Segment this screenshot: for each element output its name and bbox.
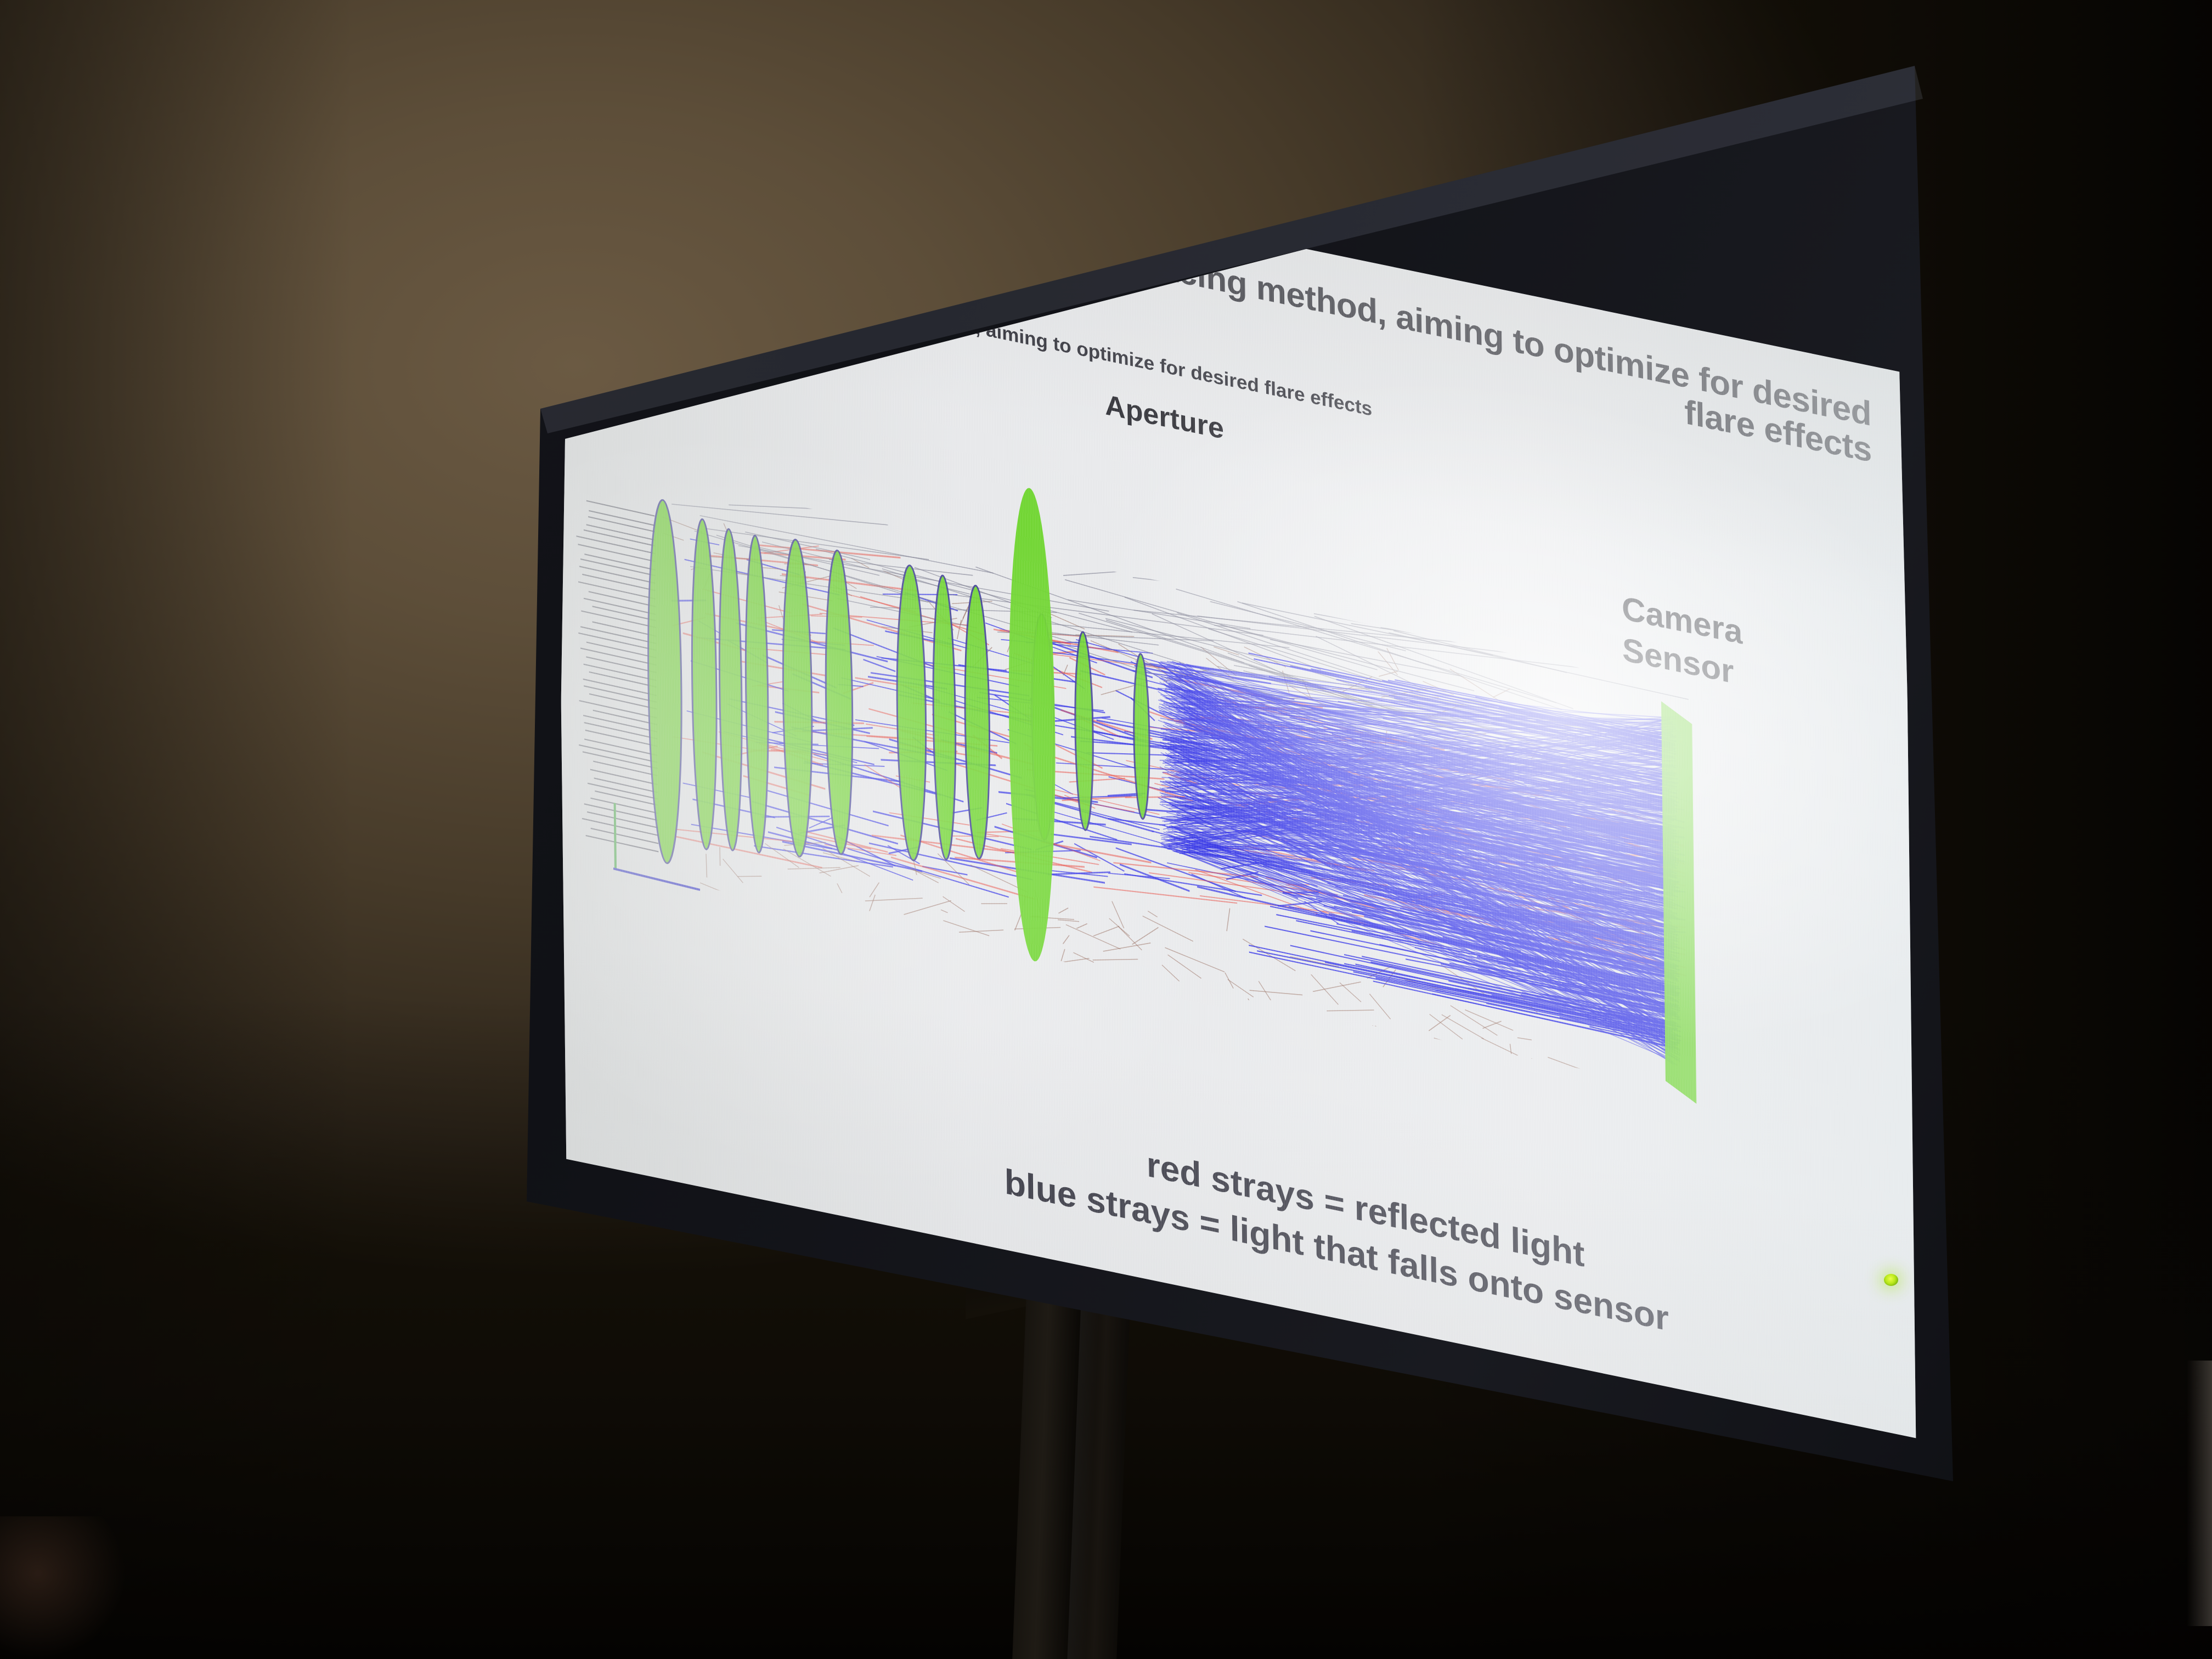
incoming-ray-group — [576, 499, 659, 852]
power-led-icon — [1884, 1274, 1898, 1286]
right-edge-object — [2187, 1361, 2212, 1626]
sensor-plane — [1661, 701, 1696, 1104]
lens-elements — [646, 496, 1152, 963]
foreground-object — [0, 1516, 126, 1659]
photo-scene: Flare simulation using raytracing method… — [0, 0, 2212, 1659]
